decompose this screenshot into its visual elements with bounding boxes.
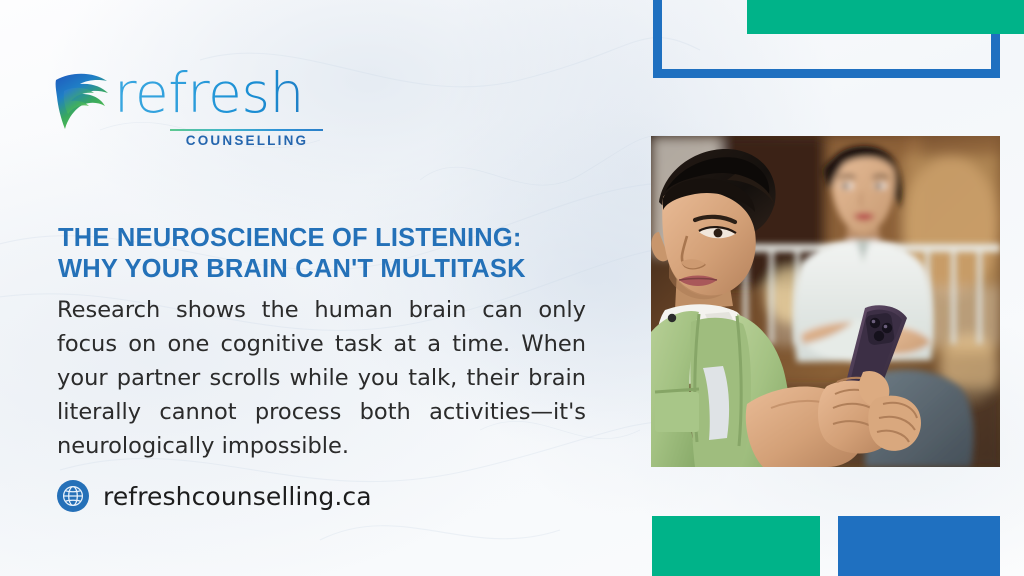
logo-wordmark: refresh [114, 66, 304, 121]
blue-block-bottom [838, 516, 1000, 576]
headline-line-2: WHY YOUR BRAIN CAN'T MULTITASK [58, 254, 618, 285]
headline-line-1: THE NEUROSCIENCE OF LISTENING: [58, 223, 618, 254]
green-block-top [747, 0, 1024, 34]
website-link[interactable]: refreshcounselling.ca [57, 480, 372, 512]
social-media-post-canvas: refresh COUNSELLING THE NEUROSCIENCE OF … [0, 0, 1024, 576]
logo-subtitle: COUNSELLING [171, 133, 323, 148]
leaf-icon [52, 69, 118, 131]
logo-divider-rule [170, 129, 323, 131]
couple-phone-photo [651, 136, 1000, 467]
website-url-text: refreshcounselling.ca [103, 482, 372, 511]
globe-icon [57, 480, 89, 512]
brand-logo[interactable]: refresh COUNSELLING [52, 66, 282, 158]
green-block-bottom [652, 516, 820, 576]
page-title: THE NEUROSCIENCE OF LISTENING: WHY YOUR … [58, 223, 618, 284]
body-paragraph: Research shows the human brain can only … [57, 293, 586, 464]
